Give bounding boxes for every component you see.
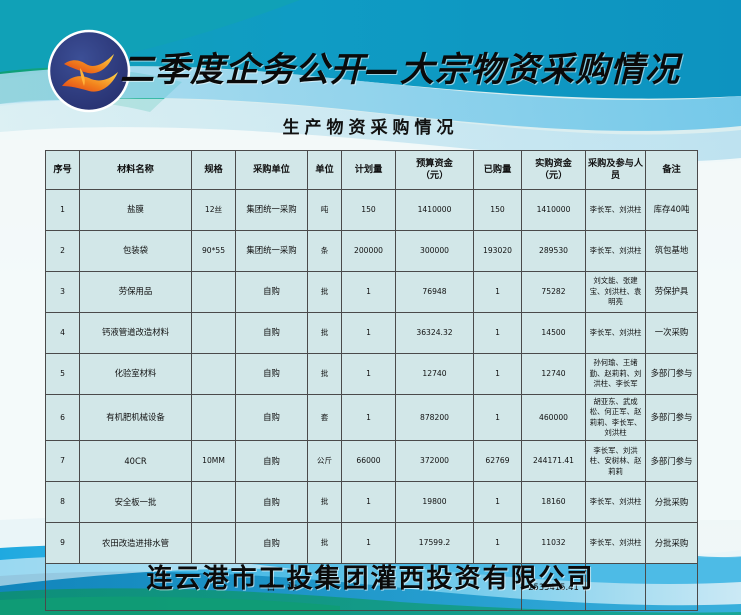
- procurement-table: 序号 材料名称 规格 采购单位 单位 计划量: [45, 150, 698, 611]
- cell-unit: 条: [308, 231, 342, 272]
- page-title: 二季度企务公开—大宗物资采购情况: [120, 36, 720, 96]
- col-header-plan-qty-line1: 计划量: [343, 164, 394, 176]
- cell-people: 李长军、刘洪柱: [586, 231, 646, 272]
- col-header-plan-qty: 计划量: [342, 151, 396, 190]
- table-row: 8 安全板一批 自购 批 1 19800 1 18160 李长军、刘洪柱 分批采…: [46, 482, 698, 523]
- cell-material: 40CR: [80, 441, 192, 482]
- cell-plan-qty: 1: [342, 272, 396, 313]
- cell-material: 钙液管道改造材料: [80, 313, 192, 354]
- table-header-row: 序号 材料名称 规格 采购单位 单位 计划量: [46, 151, 698, 190]
- cell-material: 有机肥机械设备: [80, 395, 192, 441]
- cell-no: 4: [46, 313, 80, 354]
- cell-people: 李长军、刘洪柱、安树林、赵莉莉: [586, 441, 646, 482]
- cell-actual: 289530: [522, 231, 586, 272]
- cell-plan-qty: 1: [342, 313, 396, 354]
- cell-people: 胡亚东、武成松、何正军、赵莉莉、李长军、刘洪柱: [586, 395, 646, 441]
- col-header-unit-line1: 单位: [309, 164, 340, 176]
- cell-plan-qty: 200000: [342, 231, 396, 272]
- cell-unit: 套: [308, 395, 342, 441]
- cell-budget: 76948: [396, 272, 474, 313]
- cell-spec: 10MM: [192, 441, 236, 482]
- cell-remark: 库存40吨: [646, 190, 698, 231]
- col-header-purchase-unit-line1: 采购单位: [237, 164, 306, 176]
- cell-bought-qty: 193020: [474, 231, 522, 272]
- cell-spec: 12丝: [192, 190, 236, 231]
- cell-material: 劳保用品: [80, 272, 192, 313]
- table-row: 5 化验室材料 自购 批 1 12740 1 12740 孙何瑜、王绪勤、赵莉莉…: [46, 354, 698, 395]
- cell-bought-qty: 62769: [474, 441, 522, 482]
- cell-unit: 批: [308, 313, 342, 354]
- cell-unit: 批: [308, 354, 342, 395]
- cell-actual: 12740: [522, 354, 586, 395]
- cell-purchase-unit: 自购: [236, 441, 308, 482]
- cell-purchase-unit: 自购: [236, 272, 308, 313]
- cell-actual: 75282: [522, 272, 586, 313]
- cell-actual: 460000: [522, 395, 586, 441]
- cell-no: 8: [46, 482, 80, 523]
- col-header-actual-line2: （元）: [523, 170, 584, 182]
- cell-budget: 36324.32: [396, 313, 474, 354]
- col-header-bought-qty-line1: 已购量: [475, 164, 520, 176]
- cell-people: 刘文能、张建宝、刘洪柱、袁明亮: [586, 272, 646, 313]
- cell-unit: 公斤: [308, 441, 342, 482]
- cell-purchase-unit: 自购: [236, 482, 308, 523]
- cell-no: 2: [46, 231, 80, 272]
- cell-actual: 18160: [522, 482, 586, 523]
- cell-material: 化验室材料: [80, 354, 192, 395]
- cell-spec: [192, 482, 236, 523]
- company-name: 连云港市工投集团灌西投资有限公司: [0, 558, 741, 595]
- col-header-no-line1: 序号: [47, 164, 78, 176]
- cell-actual: 244171.41: [522, 441, 586, 482]
- cell-people: 李长军、刘洪柱: [586, 190, 646, 231]
- cell-budget: 19800: [396, 482, 474, 523]
- cell-spec: [192, 272, 236, 313]
- col-header-bought-qty: 已购量: [474, 151, 522, 190]
- cell-unit: 批: [308, 272, 342, 313]
- cell-remark: 筑包基地: [646, 231, 698, 272]
- cell-bought-qty: 1: [474, 313, 522, 354]
- cell-plan-qty: 1: [342, 354, 396, 395]
- cell-actual: 14500: [522, 313, 586, 354]
- col-header-unit: 单位: [308, 151, 342, 190]
- cell-bought-qty: 1: [474, 272, 522, 313]
- cell-spec: [192, 354, 236, 395]
- cell-unit: 批: [308, 482, 342, 523]
- cell-plan-qty: 150: [342, 190, 396, 231]
- cell-budget: 372000: [396, 441, 474, 482]
- cell-no: 5: [46, 354, 80, 395]
- section-subtitle: 生产物资采购情况: [0, 113, 741, 138]
- col-header-actual: 实购资金 （元）: [522, 151, 586, 190]
- table-row: 2 包装袋 90*55 集团统一采购 条 200000 300000 19302…: [46, 231, 698, 272]
- col-header-material: 材料名称: [80, 151, 192, 190]
- cell-plan-qty: 1: [342, 395, 396, 441]
- cell-bought-qty: 1: [474, 354, 522, 395]
- cell-people: 李长军、刘洪柱: [586, 482, 646, 523]
- cell-remark: 一次采购: [646, 313, 698, 354]
- cell-purchase-unit: 自购: [236, 395, 308, 441]
- cell-plan-qty: 1: [342, 482, 396, 523]
- col-header-spec-line1: 规格: [193, 164, 234, 176]
- col-header-remark: 备注: [646, 151, 698, 190]
- cell-unit: 吨: [308, 190, 342, 231]
- cell-purchase-unit: 自购: [236, 313, 308, 354]
- cell-actual: 1410000: [522, 190, 586, 231]
- table-row: 1 盐膜 12丝 集团统一采购 吨 150 1410000 150 141000…: [46, 190, 698, 231]
- table-body: 1 盐膜 12丝 集团统一采购 吨 150 1410000 150 141000…: [46, 190, 698, 611]
- cell-purchase-unit: 集团统一采购: [236, 190, 308, 231]
- col-header-no: 序号: [46, 151, 80, 190]
- table-row: 3 劳保用品 自购 批 1 76948 1 75282 刘文能、张建宝、刘洪柱、…: [46, 272, 698, 313]
- table-row: 7 40CR 10MM 自购 公斤 66000 372000 62769 244…: [46, 441, 698, 482]
- col-header-remark-line1: 备注: [647, 164, 696, 176]
- cell-remark: 多部门参与: [646, 441, 698, 482]
- col-header-people: 采购及参与人员: [586, 151, 646, 190]
- cell-material: 安全板一批: [80, 482, 192, 523]
- table-row: 6 有机肥机械设备 自购 套 1 878200 1 460000 胡亚东、武成松…: [46, 395, 698, 441]
- cell-remark: 劳保护具: [646, 272, 698, 313]
- cell-spec: [192, 313, 236, 354]
- cell-no: 3: [46, 272, 80, 313]
- cell-bought-qty: 1: [474, 482, 522, 523]
- col-header-purchase-unit: 采购单位: [236, 151, 308, 190]
- cell-bought-qty: 150: [474, 190, 522, 231]
- cell-purchase-unit: 集团统一采购: [236, 231, 308, 272]
- cell-material: 包装袋: [80, 231, 192, 272]
- procurement-table-container: 序号 材料名称 规格 采购单位 单位 计划量: [45, 150, 697, 611]
- col-header-budget-line2: （元）: [397, 170, 472, 182]
- cell-budget: 878200: [396, 395, 474, 441]
- cell-plan-qty: 66000: [342, 441, 396, 482]
- cell-no: 6: [46, 395, 80, 441]
- cell-remark: 多部门参与: [646, 395, 698, 441]
- cell-material: 盐膜: [80, 190, 192, 231]
- table-header: 序号 材料名称 规格 采购单位 单位 计划量: [46, 151, 698, 190]
- cell-bought-qty: 1: [474, 395, 522, 441]
- cell-no: 1: [46, 190, 80, 231]
- cell-no: 7: [46, 441, 80, 482]
- cell-budget: 12740: [396, 354, 474, 395]
- col-header-spec: 规格: [192, 151, 236, 190]
- col-header-people-line1: 采购及参与人员: [587, 158, 644, 183]
- col-header-material-line1: 材料名称: [81, 164, 190, 176]
- table-row: 4 钙液管道改造材料 自购 批 1 36324.32 1 14500 李长军、刘…: [46, 313, 698, 354]
- col-header-actual-line1: 实购资金: [523, 158, 584, 170]
- cell-people: 李长军、刘洪柱: [586, 313, 646, 354]
- cell-people: 孙何瑜、王绪勤、赵莉莉、刘洪柱、李长军: [586, 354, 646, 395]
- cell-remark: 多部门参与: [646, 354, 698, 395]
- cell-spec: [192, 395, 236, 441]
- col-header-budget-line1: 预算资金: [397, 158, 472, 170]
- poster-root: 二季度企务公开—大宗物资采购情况 生产物资采购情况 序号: [0, 0, 741, 615]
- cell-spec: 90*55: [192, 231, 236, 272]
- cell-purchase-unit: 自购: [236, 354, 308, 395]
- col-header-budget: 预算资金 （元）: [396, 151, 474, 190]
- cell-budget: 1410000: [396, 190, 474, 231]
- cell-remark: 分批采购: [646, 482, 698, 523]
- cell-budget: 300000: [396, 231, 474, 272]
